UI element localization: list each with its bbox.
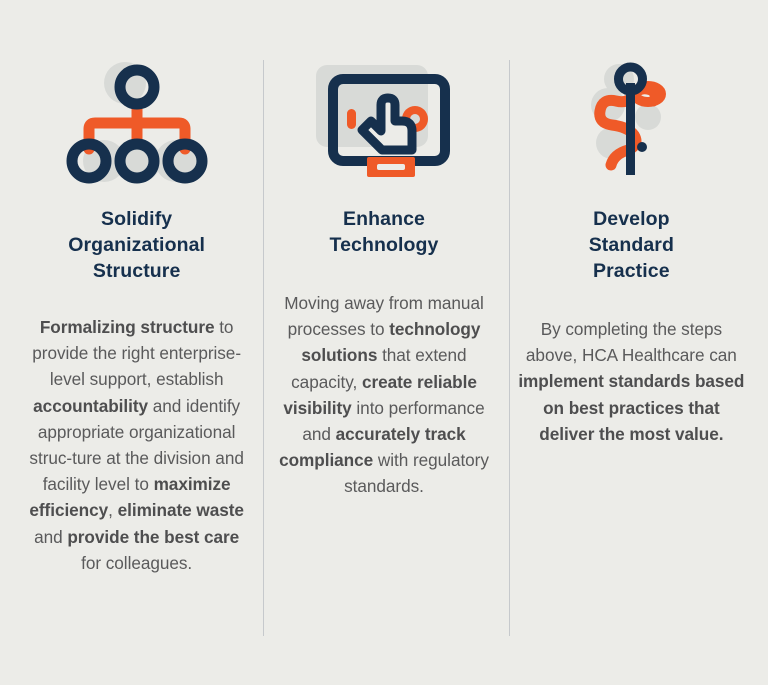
body-text: By completing the steps above, HCA Healt…	[526, 319, 737, 365]
body-emphasis: provide the best care	[67, 527, 239, 547]
pillar-body-standard-practice: By completing the steps above, HCA Healt…	[517, 316, 746, 447]
heading-line: Practice	[593, 260, 670, 282]
pillar-heading-standard-practice: Develop Standard Practice	[589, 206, 674, 284]
body-text: and	[34, 527, 67, 547]
body-text: for colleagues.	[81, 553, 192, 573]
pillar-column-organizational-structure: Solidify Organizational Structure Formal…	[10, 52, 263, 576]
body-emphasis: accountability	[33, 396, 148, 416]
heading-line: Standard	[589, 234, 674, 256]
org-chart-icon	[62, 52, 212, 192]
body-emphasis: eliminate waste	[118, 500, 244, 520]
heading-line: Structure	[93, 260, 181, 282]
heading-line: Solidify	[101, 208, 172, 230]
pillar-column-technology: Enhance Technology Moving away from manu…	[263, 52, 504, 500]
monitor-touch-icon	[309, 52, 459, 192]
body-emphasis: Formalizing structure	[40, 317, 215, 337]
pillar-body-technology: Moving away from manual processes to tec…	[273, 290, 494, 500]
rod-of-asclepius-icon	[556, 52, 706, 192]
pillar-body-organizational-structure: Formalizing structure to provide the rig…	[22, 314, 251, 576]
pillar-column-standard-practice: Develop Standard Practice By completing …	[505, 52, 758, 447]
heading-line: Develop	[593, 208, 670, 230]
pillar-heading-organizational-structure: Solidify Organizational Structure	[68, 206, 205, 284]
heading-line: Enhance	[343, 208, 425, 230]
heading-line: Technology	[330, 234, 439, 256]
infographic-root: Solidify Organizational Structure Formal…	[0, 0, 768, 685]
heading-line: Organizational	[68, 234, 205, 256]
body-text: ,	[108, 500, 117, 520]
pillar-heading-technology: Enhance Technology	[330, 206, 439, 258]
body-emphasis: implement standards based on best practi…	[518, 371, 744, 443]
